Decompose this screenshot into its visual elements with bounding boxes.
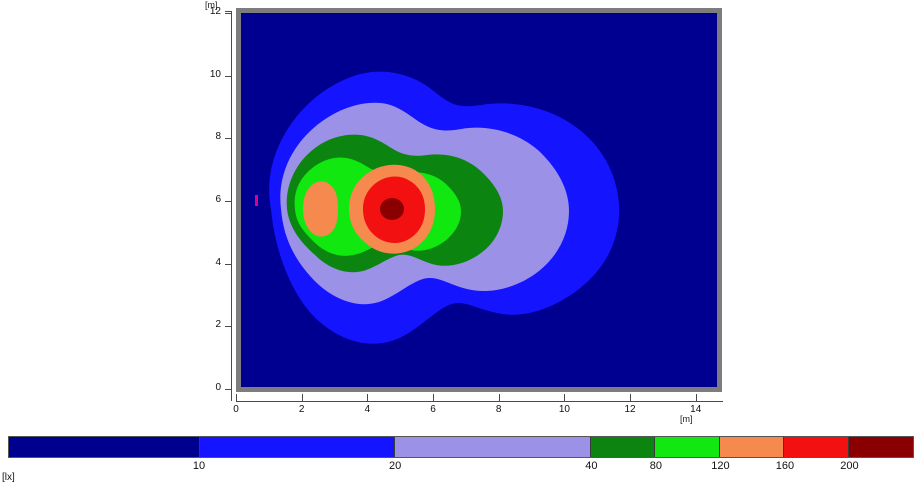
- x-tick-label: 4: [353, 404, 381, 415]
- x-tick-label: 10: [550, 404, 578, 415]
- y-tick-label: 0: [193, 382, 221, 393]
- legend-tick-label: 120: [700, 460, 740, 472]
- y-tick-label: 8: [193, 131, 221, 142]
- luminaire-position-marker: [255, 195, 258, 206]
- x-tick-label: 0: [222, 404, 250, 415]
- y-tick: [225, 13, 232, 14]
- y-tick: [225, 138, 232, 139]
- y-tick: [225, 76, 232, 77]
- legend-band: [784, 437, 848, 457]
- x-tick: [696, 394, 697, 401]
- x-tick-label: 12: [616, 404, 644, 415]
- legend-tick-label: 160: [765, 460, 805, 472]
- x-tick: [236, 394, 237, 401]
- legend-band: [591, 437, 655, 457]
- legend-tick-label: 40: [571, 460, 611, 472]
- x-tick: [302, 394, 303, 401]
- x-tick: [564, 394, 565, 401]
- y-axis-line: [231, 11, 232, 389]
- legend-band: [200, 437, 396, 457]
- x-tick-label: 6: [419, 404, 447, 415]
- y-tick: [225, 264, 232, 265]
- legend-band: [720, 437, 784, 457]
- plot-frame: [236, 8, 722, 392]
- contour-band-120-160-secondary: [303, 181, 338, 236]
- illuminance-contour-figure: [m] [m] 024681012 02468101214: [0, 0, 922, 430]
- y-tick-label: 10: [193, 69, 221, 80]
- x-tick: [499, 394, 500, 401]
- x-tick: [433, 394, 434, 401]
- isolux-contour-map: [241, 13, 717, 387]
- x-tick-label: 2: [288, 404, 316, 415]
- x-tick-label: 14: [682, 404, 710, 415]
- legend-tick-label: 10: [179, 460, 219, 472]
- x-axis-unit-label: [m]: [680, 414, 693, 424]
- y-tick: [225, 201, 232, 202]
- x-tick: [630, 394, 631, 401]
- y-tick-label: 12: [193, 6, 221, 17]
- legend-unit-label: [lx]: [2, 472, 15, 483]
- y-tick: [225, 326, 232, 327]
- contour-band-above-200: [380, 198, 404, 220]
- legend-band: [395, 437, 591, 457]
- x-axis-left-hook: [231, 389, 232, 401]
- y-tick-label: 2: [193, 319, 221, 330]
- legend-band: [655, 437, 719, 457]
- y-tick-label: 4: [193, 257, 221, 268]
- illuminance-legend: 10204080120160200 [lx]: [0, 432, 922, 486]
- plot-area[interactable]: [241, 13, 717, 387]
- legend-color-bar: [8, 436, 914, 458]
- x-tick-label: 8: [485, 404, 513, 415]
- y-tick: [225, 389, 232, 390]
- legend-band: [849, 437, 913, 457]
- y-axis-top-hook: [225, 11, 232, 12]
- legend-tick-label: 200: [829, 460, 869, 472]
- y-tick-label: 6: [193, 194, 221, 205]
- legend-tick-label: 20: [375, 460, 415, 472]
- x-axis-line: [236, 401, 723, 402]
- legend-tick-label: 80: [636, 460, 676, 472]
- legend-band: [9, 437, 200, 457]
- x-tick: [367, 394, 368, 401]
